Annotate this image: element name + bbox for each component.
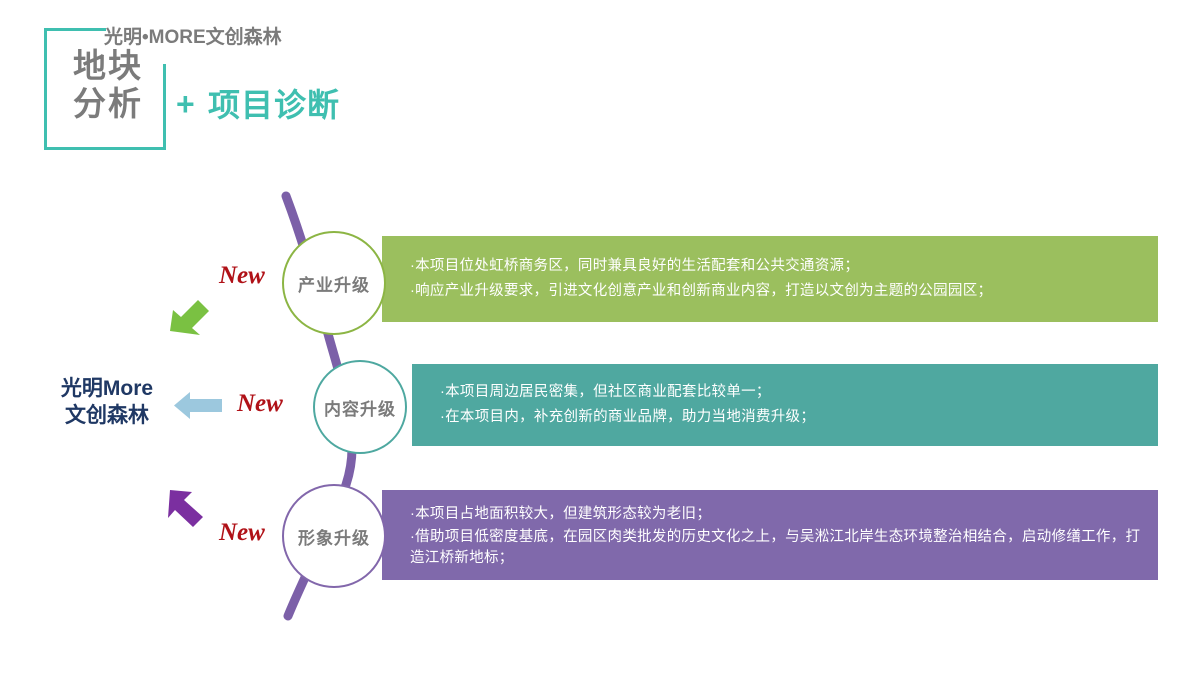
row-bullet-text: ·在本项目内，补充创新的商业品牌，助力当地消费升级； (440, 405, 1158, 430)
node-circle-label: 形象升级 (298, 524, 370, 549)
row-bullet-text: ·本项目周边居民密集，但社区商业配套比较单一； (440, 380, 1158, 405)
row-bar-industry-upgrade: ·本项目位处虹桥商务区，同时兼具良好的生活配套和公共交通资源； ·响应产业升级要… (382, 236, 1158, 322)
node-circle-content-upgrade[interactable]: 内容升级 (313, 360, 407, 454)
row-bullet-text: ·本项目位处虹桥商务区，同时兼具良好的生活配套和公共交通资源； (410, 254, 1158, 279)
node-circle-label: 产业升级 (298, 271, 370, 296)
row-bullet-text: ·本项目占地面积较大，但建筑形态较为老旧； (410, 502, 1148, 527)
node-circle-image-upgrade[interactable]: 形象升级 (282, 484, 386, 588)
left-cluster-label: 光明More 文创森林 (42, 375, 172, 429)
diagram-canvas: ·本项目位处虹桥商务区，同时兼具良好的生活配套和公共交通资源； ·响应产业升级要… (0, 0, 1200, 675)
arrow-down-left-icon (166, 293, 212, 337)
new-badge-image-upgrade: New (219, 519, 265, 547)
arrow-left-icon (174, 392, 222, 419)
new-badge-content-upgrade: New (237, 390, 283, 418)
arrow-up-left-icon (166, 486, 212, 530)
node-circle-label: 内容升级 (324, 395, 396, 420)
new-badge-industry-upgrade: New (219, 262, 265, 290)
node-circle-industry-upgrade[interactable]: 产业升级 (282, 231, 386, 335)
row-bullet-text: ·借助项目低密度基底，在园区肉类批发的历史文化之上，与吴淞江北岸生态环境整治相结… (410, 527, 1148, 569)
left-cluster-label-line2: 文创森林 (42, 402, 172, 429)
left-cluster-label-line1: 光明More (42, 375, 172, 402)
row-bar-image-upgrade: ·本项目占地面积较大，但建筑形态较为老旧； ·借助项目低密度基底，在园区肉类批发… (382, 490, 1158, 580)
row-bullet-text: ·响应产业升级要求，引进文化创意产业和创新商业内容，打造以文创为主题的公园园区； (410, 279, 1158, 304)
row-bar-content-upgrade: ·本项目周边居民密集，但社区商业配套比较单一； ·在本项目内，补充创新的商业品牌… (412, 364, 1158, 446)
